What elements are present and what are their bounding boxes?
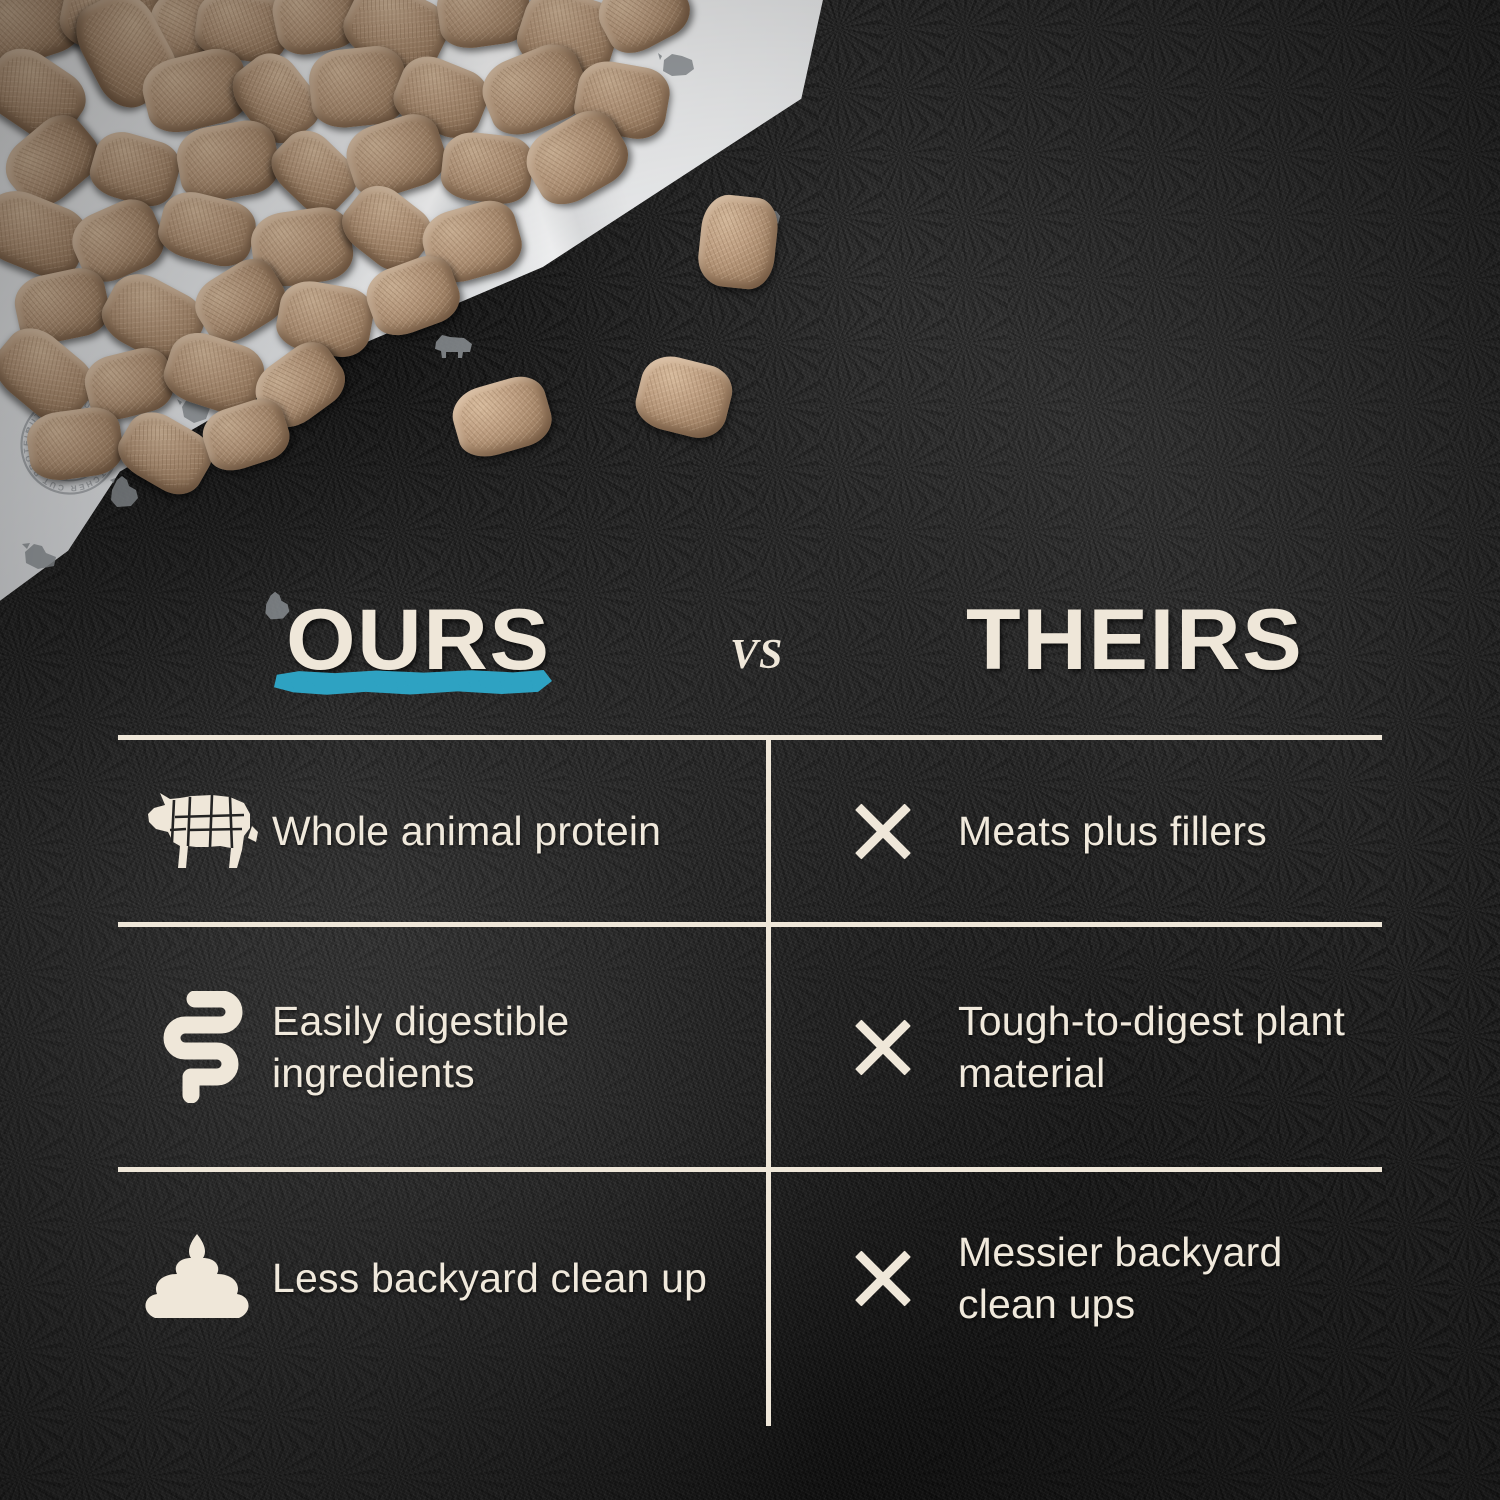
ours-row-text: Less backyard clean up [272, 1252, 707, 1304]
paper-print-pig-icon [430, 330, 476, 360]
theirs-cell: Messier backyard clean ups [768, 1172, 1382, 1384]
x-mark-icon [852, 1016, 914, 1078]
column-divider [766, 1172, 771, 1426]
ours-heading: OURS [286, 597, 551, 683]
ours-heading-group: OURS [286, 597, 540, 683]
kibble-pellet-loose [446, 370, 558, 464]
kibble-pellet [439, 129, 536, 206]
theirs-cell: Tough-to-digest plant material [768, 927, 1382, 1167]
ours-cell: Less backyard clean up [118, 1172, 768, 1384]
paper-print-chicken-icon [103, 474, 143, 510]
ours-row-text: Easily digestible ingredients [272, 995, 768, 1100]
theirs-row-text: Tough-to-digest plant material [958, 995, 1382, 1100]
column-divider [766, 740, 771, 922]
ours-row-text: Whole animal protein [272, 805, 661, 857]
cow-butcher-chart-icon [122, 784, 272, 878]
theirs-heading: THEIRS [966, 597, 1303, 683]
paper-print-duck-icon [18, 540, 60, 572]
vs-label: VS [730, 631, 783, 679]
comparison-header-row: OURS VS THEIRS [118, 585, 1382, 735]
ours-cell: Easily digestible ingredients [118, 927, 768, 1167]
ours-cell: Whole animal protein [118, 740, 768, 922]
table-row: Whole animal protein Meats plus fillers [118, 740, 1382, 922]
x-mark-icon [852, 1247, 914, 1309]
kibble-pellet-loose [630, 350, 737, 444]
kibble-pellet-loose [695, 192, 780, 291]
theirs-row-text: Messier backyard clean ups [958, 1226, 1382, 1331]
infographic-canvas: BUTCHER CUT PROTEIN BUTCHER CUT PROTEIN [0, 0, 1500, 1500]
x-mark-icon [852, 800, 914, 862]
poop-icon [122, 1232, 272, 1324]
product-photo: BUTCHER CUT PROTEIN BUTCHER CUT PROTEIN [0, 0, 900, 620]
comparison-table: OURS VS THEIRS [118, 585, 1382, 1384]
theirs-cell: Meats plus fillers [768, 740, 1382, 922]
theirs-heading-group: THEIRS [966, 597, 1290, 683]
theirs-row-text: Meats plus fillers [958, 805, 1267, 857]
intestine-icon [122, 991, 272, 1103]
column-divider [766, 927, 771, 1167]
table-row: Less backyard clean up Messier backyard … [118, 1172, 1382, 1384]
table-row: Easily digestible ingredients Tough-to-d… [118, 927, 1382, 1167]
teal-brush-underline [274, 669, 552, 695]
